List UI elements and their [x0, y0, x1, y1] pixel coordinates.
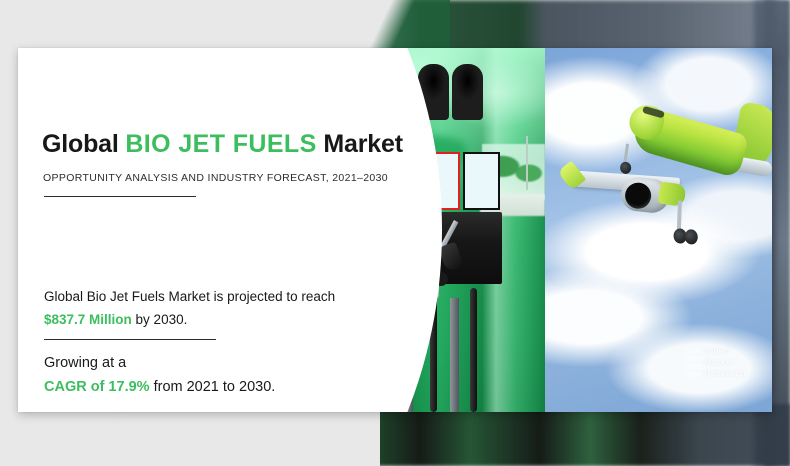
watermark-bar-2 [684, 356, 704, 361]
allied-market-research-watermark: Allied Market Research [684, 344, 762, 382]
airplane [554, 74, 772, 274]
watermark-bar-1 [684, 348, 699, 353]
background-bleed-bottom-diagonal [120, 404, 380, 466]
watermark-logo-icon [684, 348, 706, 378]
divider-middle [44, 339, 216, 340]
page-title: Global BIO JET FUELS Market [42, 130, 403, 159]
airplane-sky-photo: Allied Market Research [545, 48, 772, 412]
pump-background-pole [526, 136, 528, 190]
airplane-engine-exhaust [658, 181, 687, 206]
divider-top [44, 196, 196, 197]
airplane-nose-wheel [620, 161, 632, 174]
airplane-main-wheel-2 [684, 229, 698, 245]
cagr-suffix: from 2021 to 2030. [150, 379, 276, 395]
infographic-card: Allied Market Research Global BIO JET FU… [18, 48, 772, 412]
pump-nozzle-holster-3 [452, 64, 483, 120]
title-highlight: BIO JET FUELS [125, 130, 316, 158]
market-size-suffix: by 2030. [132, 312, 188, 327]
watermark-bar-3 [684, 364, 706, 369]
watermark-bar-4 [684, 372, 702, 377]
market-size-prefix: Global Bio Jet Fuels Market is projected… [44, 289, 335, 304]
watermark-text: Allied Market Research [704, 346, 746, 379]
page-subtitle: OPPORTUNITY ANALYSIS AND INDUSTRY FORECA… [43, 172, 388, 184]
pump-hose-3 [470, 288, 477, 412]
market-size-statement: Global Bio Jet Fuels Market is projected… [44, 285, 374, 331]
market-size-value: $837.7 Million [44, 312, 132, 327]
title-prefix: Global [42, 130, 125, 158]
watermark-line-3: Research [704, 368, 746, 379]
cagr-value: CAGR of 17.9% [44, 379, 150, 395]
pump-price-panel-3 [463, 152, 500, 210]
cagr-lead: Growing at a [44, 355, 126, 371]
airplane-main-gear-strut [677, 200, 682, 230]
cagr-statement: Growing at aCAGR of 17.9% from 2021 to 2… [44, 351, 384, 399]
pump-metal-bar-2 [450, 298, 459, 412]
title-suffix: Market [317, 130, 403, 158]
watermark-line-2: Market [704, 357, 746, 368]
watermark-line-1: Allied [704, 346, 746, 357]
